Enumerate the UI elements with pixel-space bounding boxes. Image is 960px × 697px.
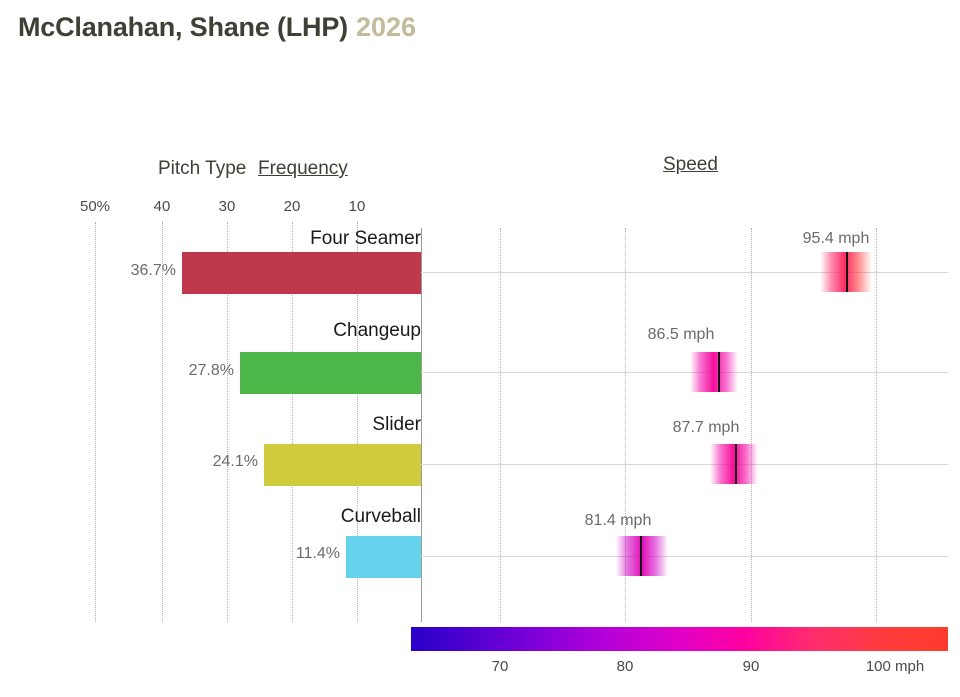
speed-value-changeup: 86.5 mph	[611, 326, 751, 344]
speed-value-four-seamer: 95.4 mph	[766, 230, 906, 248]
speed-gridline-100	[876, 228, 877, 622]
freq-axis-tick-3: 20	[267, 198, 317, 215]
freq-gridline-50	[95, 222, 96, 622]
frequency-bar-curveball	[346, 536, 421, 578]
speed-distribution-changeup	[690, 352, 738, 392]
frequency-header: Frequency	[258, 158, 348, 180]
freq-axis-tick-0: 50%	[65, 198, 125, 215]
freq-axis-tick-2: 30	[202, 198, 252, 215]
speed-marker-slider	[735, 444, 737, 484]
frequency-bar-changeup	[240, 352, 421, 394]
frequency-value-four-seamer: 36.7%	[58, 262, 176, 280]
frequency-value-slider: 24.1%	[140, 453, 258, 471]
pitch-label-changeup: Changeup	[181, 320, 421, 342]
center-axis-spine	[421, 228, 422, 622]
speed-marker-four-seamer	[846, 252, 848, 292]
frequency-value-curveball: 11.4%	[222, 545, 340, 563]
colorbar-tick-100: 100 mph	[840, 658, 950, 675]
frequency-value-changeup: 27.8%	[116, 362, 234, 380]
pitch-profile-chart: Pitch Type Frequency Speed 50% 40 30 20 …	[0, 0, 960, 697]
frequency-bar-slider	[264, 444, 421, 486]
colorbar-tick-70: 70	[455, 658, 545, 675]
pitch-label-four-seamer: Four Seamer	[181, 228, 421, 250]
pitch-label-slider: Slider	[181, 414, 421, 436]
speed-gridline-70	[500, 228, 501, 622]
freq-axis-tick-4: 10	[332, 198, 382, 215]
pitch-type-header: Pitch Type	[158, 158, 246, 180]
speed-distribution-slider	[710, 444, 758, 484]
speed-marker-curveball	[640, 536, 642, 576]
speed-value-slider: 87.7 mph	[626, 419, 786, 437]
speed-colorbar	[411, 627, 948, 651]
speed-marker-changeup	[718, 352, 720, 392]
speed-value-curveball: 81.4 mph	[538, 512, 698, 530]
freq-axis-tick-1: 40	[137, 198, 187, 215]
speed-distribution-curveball	[616, 536, 668, 576]
colorbar-tick-90: 90	[706, 658, 796, 675]
speed-header: Speed	[663, 154, 718, 176]
freq-gridline-40	[162, 222, 163, 622]
colorbar-tick-80: 80	[580, 658, 670, 675]
pitch-label-curveball: Curveball	[181, 506, 421, 528]
frequency-bar-four-seamer	[182, 252, 421, 294]
